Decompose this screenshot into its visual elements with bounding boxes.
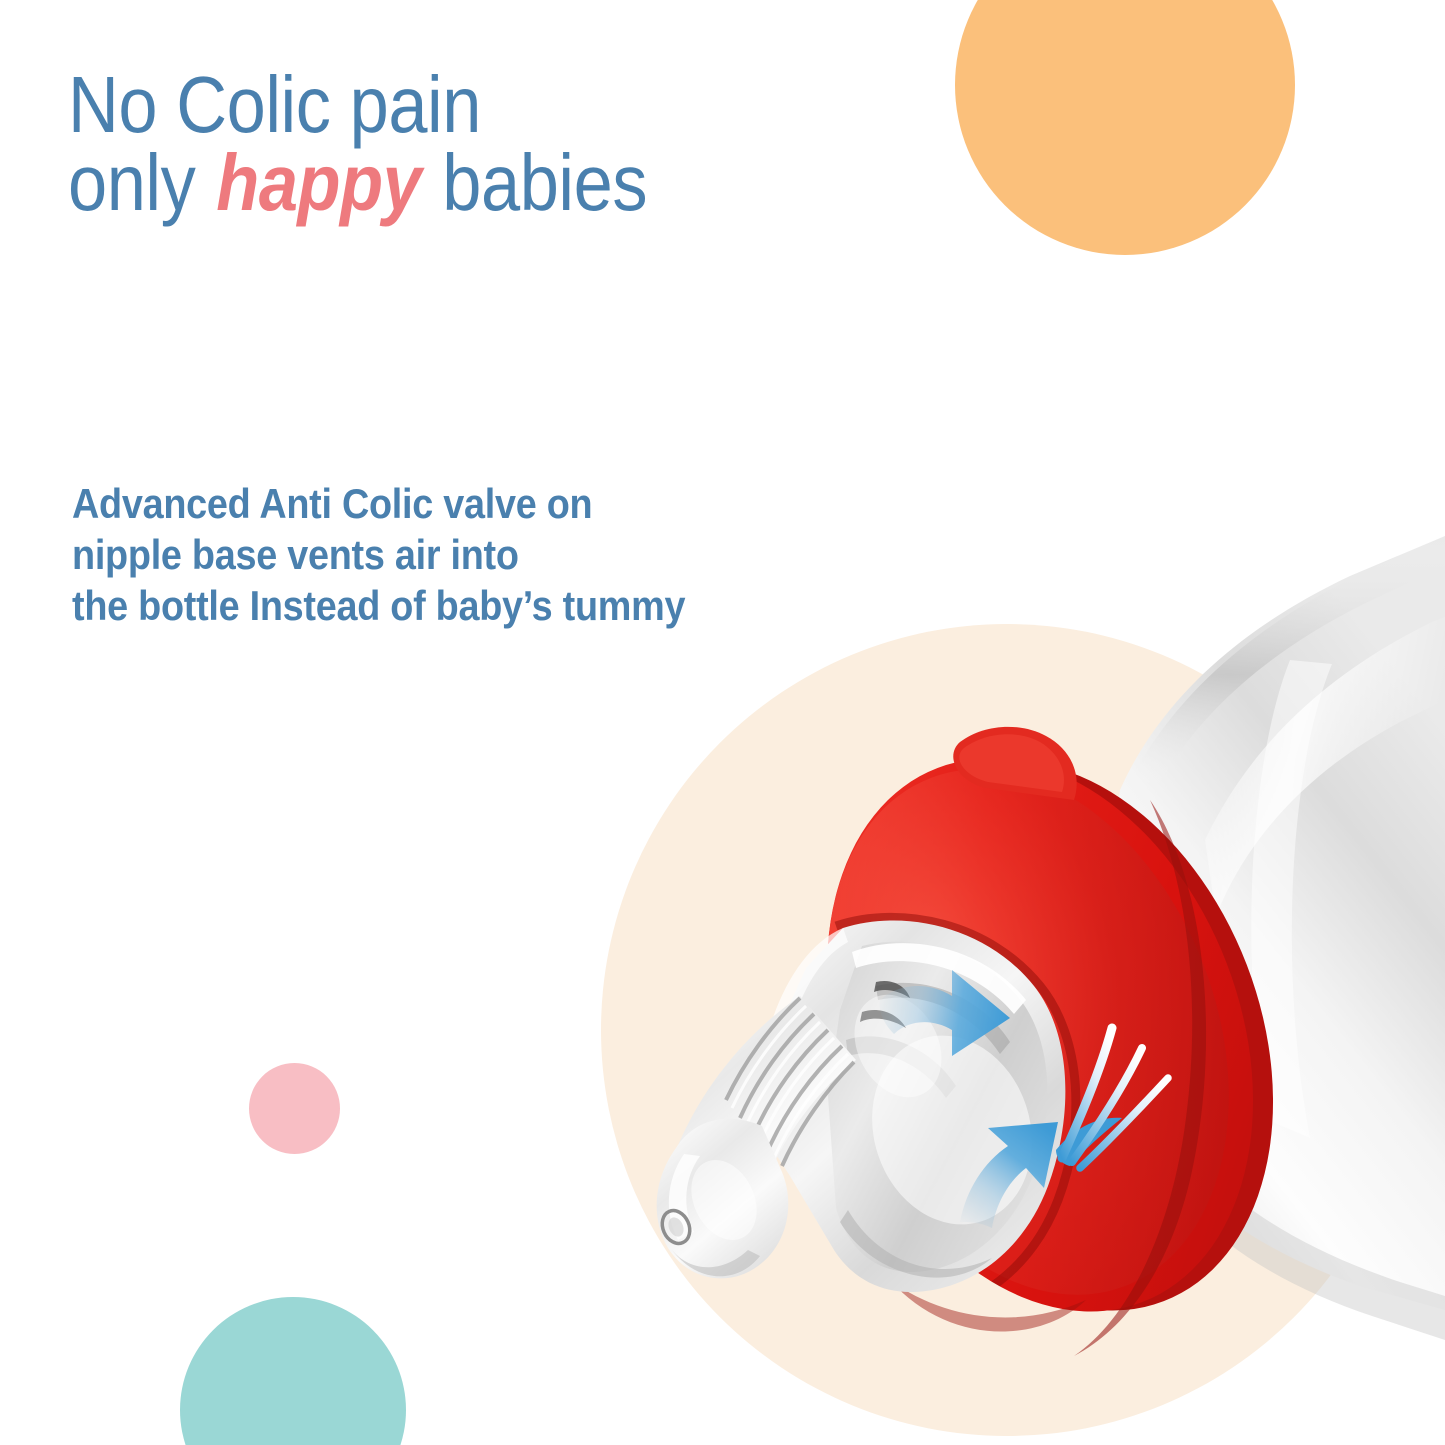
body-copy-line-3: the bottle Instead of baby’s tummy bbox=[72, 580, 882, 631]
headline-line-2-suffix: babies bbox=[423, 138, 647, 227]
body-copy-line-2: nipple base vents air into bbox=[72, 529, 882, 580]
headline-accent-word: happy bbox=[215, 138, 424, 227]
body-copy: Advanced Anti Colic valve on nipple base… bbox=[72, 478, 882, 632]
poster-canvas: No Colic pain only happy babies Advanced… bbox=[0, 0, 1445, 1445]
decorative-circle-teal bbox=[180, 1297, 406, 1445]
headline-line-1: No Colic pain bbox=[68, 66, 825, 144]
body-copy-line-1: Advanced Anti Colic valve on bbox=[72, 478, 882, 529]
product-backdrop-circle bbox=[601, 624, 1413, 1436]
headline-line-2: only happy babies bbox=[68, 144, 825, 222]
decorative-circle-pink bbox=[249, 1063, 340, 1154]
decorative-circle-orange bbox=[955, 0, 1295, 255]
headline-line-2-prefix: only bbox=[68, 138, 215, 227]
headline: No Colic pain only happy babies bbox=[68, 66, 825, 223]
